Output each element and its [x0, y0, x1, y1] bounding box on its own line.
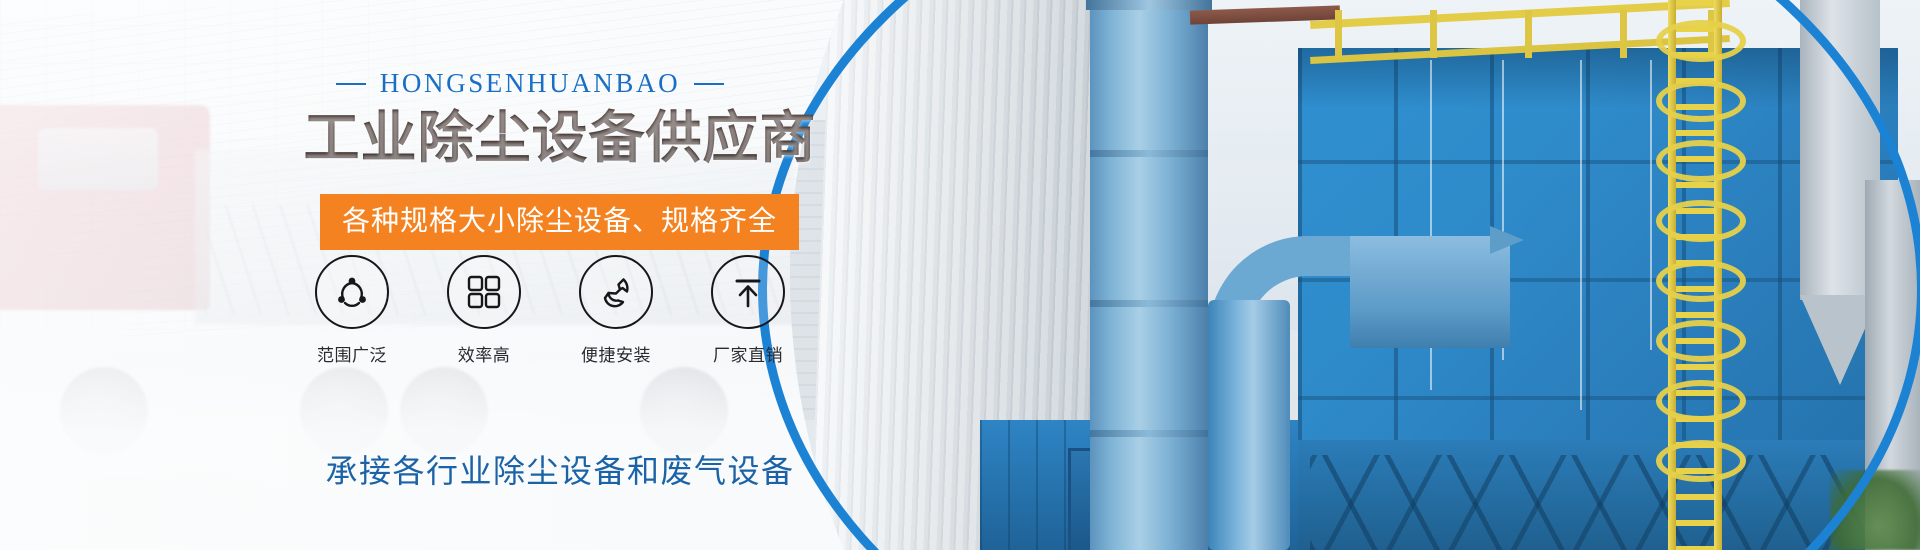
eyebrow-dash-right — [694, 83, 724, 85]
grid-four-squares-icon — [447, 255, 521, 329]
eyebrow: HONGSENHUANBAO — [300, 68, 760, 99]
feature-label: 范围广泛 — [317, 341, 387, 366]
highlight-badge: 各种规格大小除尘设备、规格齐全 — [320, 194, 799, 250]
tagline: 承接各行业除尘设备和废气设备 — [300, 446, 820, 492]
feature-label: 厂家直销 — [713, 341, 783, 366]
feature-item-factory-direct[interactable]: 厂家直销 — [696, 255, 800, 366]
eyebrow-text: HONGSENHUANBAO — [380, 68, 680, 99]
eyebrow-dash-left — [336, 83, 366, 85]
feature-item-installation[interactable]: 便捷安装 — [564, 255, 668, 366]
feature-list: 范围广泛 效率高 — [300, 255, 800, 366]
feature-item-efficiency[interactable]: 效率高 — [432, 255, 536, 366]
page-title: 工业除尘设备供应商 — [300, 108, 820, 171]
share-network-icon — [315, 255, 389, 329]
wrench-icon — [579, 255, 653, 329]
highlight-badge-text: 各种规格大小除尘设备、规格齐全 — [342, 204, 777, 237]
feature-item-range[interactable]: 范围广泛 — [300, 255, 404, 366]
banner-content: HONGSENHUANBAO 工业除尘设备供应商 各种规格大小除尘设备、规格齐全 — [0, 0, 1060, 550]
arrow-up-to-line-icon — [711, 255, 785, 329]
feature-label: 效率高 — [458, 341, 511, 366]
feature-label: 便捷安装 — [581, 341, 651, 366]
hero-banner: HONGSENHUANBAO 工业除尘设备供应商 各种规格大小除尘设备、规格齐全 — [0, 0, 1920, 550]
